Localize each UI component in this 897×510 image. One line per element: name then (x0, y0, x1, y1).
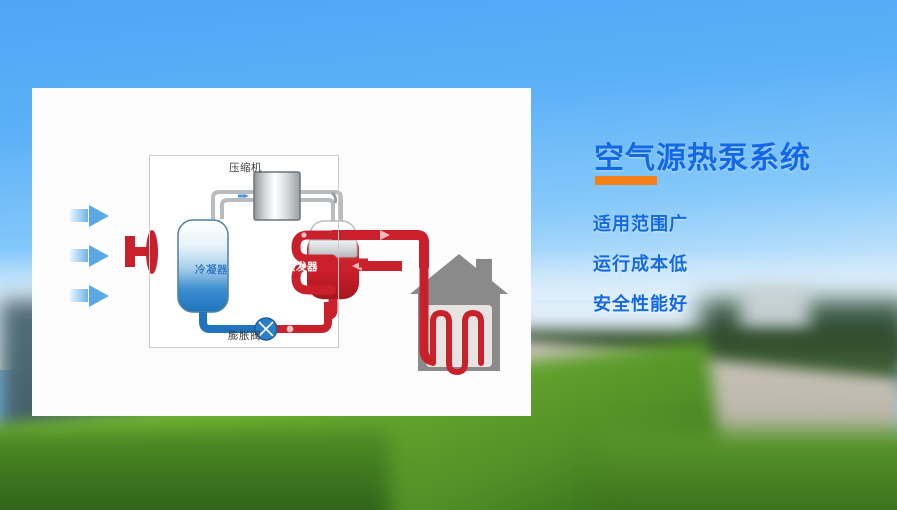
hot-flow-marker (287, 326, 294, 333)
compressor-icon (254, 172, 300, 220)
expansion-valve-label: 膨胀阀 (228, 328, 261, 343)
feature-item-1: 适用范围广 (593, 210, 688, 236)
bend-highlight-1 (301, 232, 306, 237)
right-grass-shadow (600, 430, 897, 510)
diagram-card: 压缩机 冷凝器 蒸发器 膨胀阀 (32, 88, 531, 416)
cold-liquid-line (203, 312, 255, 329)
feature-item-2: 运行成本低 (593, 250, 688, 276)
left-grass-shadow (0, 430, 390, 510)
condenser-label: 冷凝器 (195, 262, 228, 277)
evaporator-heat-exchanger-bar (309, 240, 357, 257)
gas-flow-arrowhead-left (244, 194, 249, 198)
title-underline-rule (595, 176, 657, 185)
heat-pump-diagram: 压缩机 冷凝器 蒸发器 膨胀阀 (32, 88, 531, 416)
page-title: 空气源热泵系统 (594, 133, 811, 177)
hot-liquid-line (277, 302, 328, 329)
text-panel: 空气源热泵系统 适用范围广 运行成本低 安全性能好 (560, 110, 897, 330)
circuit-svg (32, 88, 531, 416)
compressor-label: 压缩机 (229, 160, 262, 175)
evaporator-label: 蒸发器 (285, 259, 318, 274)
feature-item-3: 安全性能好 (593, 290, 688, 316)
